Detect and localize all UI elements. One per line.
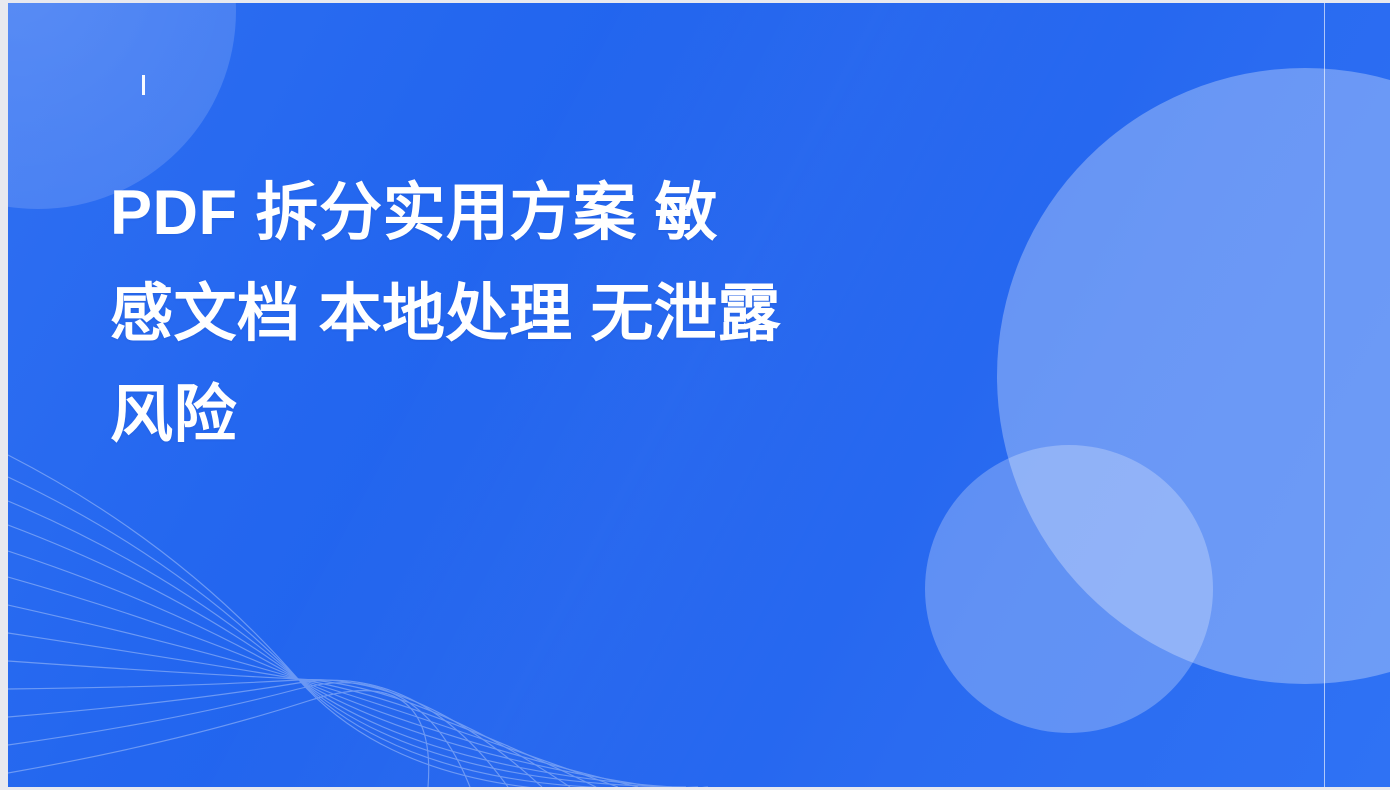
title-tick-accent — [142, 75, 145, 95]
circle-right-small-decoration — [925, 445, 1213, 733]
title-line-2: 感文档 本地处理 无泄露 — [110, 264, 870, 365]
title-line-1: PDF 拆分实用方案 敏 — [110, 163, 870, 264]
page-title: PDF 拆分实用方案 敏 感文档 本地处理 无泄露 风险 — [110, 163, 870, 466]
slide-canvas: PDF 拆分实用方案 敏 感文档 本地处理 无泄露 风险 — [8, 3, 1390, 787]
slide-root: PDF 拆分实用方案 敏 感文档 本地处理 无泄露 风险 — [0, 0, 1390, 790]
vertical-rule-decoration — [1324, 3, 1325, 787]
title-line-3: 风险 — [110, 365, 870, 466]
